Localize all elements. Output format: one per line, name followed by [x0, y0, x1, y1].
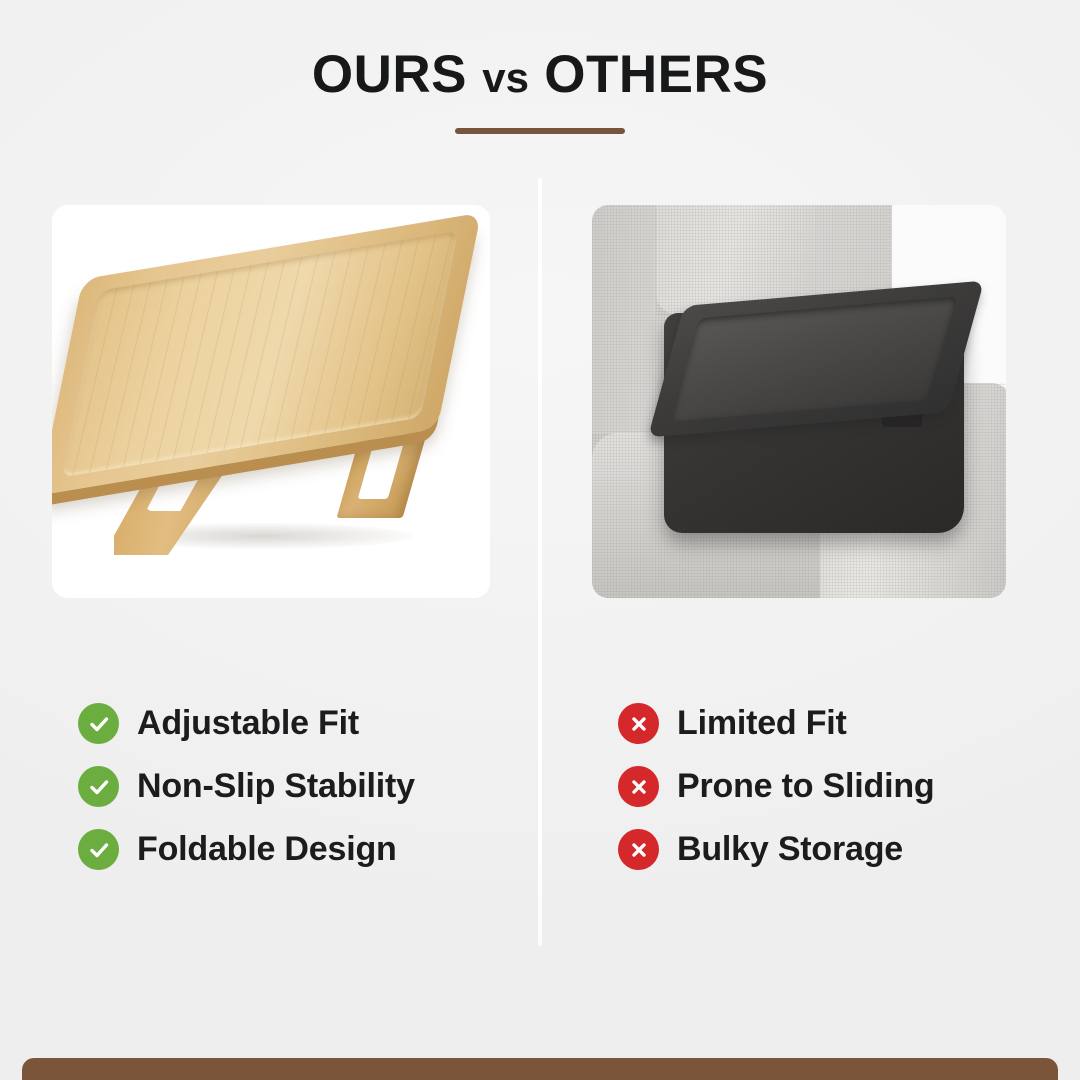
feature-label: Non-Slip Stability	[137, 767, 415, 806]
feature-label: Prone to Sliding	[677, 767, 934, 806]
list-item: Foldable Design	[78, 818, 415, 881]
list-item: Prone to Sliding	[618, 755, 934, 818]
list-item: Adjustable Fit	[78, 692, 415, 755]
ours-product-image-card	[52, 205, 490, 598]
title-underline-rule	[455, 128, 625, 134]
others-feature-list: Limited Fit Prone to Sliding Bulky Stora…	[618, 692, 934, 881]
check-circle-icon	[78, 703, 119, 744]
column-divider	[538, 178, 542, 946]
title-others: OTHERS	[544, 45, 768, 104]
bamboo-folding-tray-table-photo	[52, 205, 490, 598]
x-circle-icon	[618, 829, 659, 870]
feature-label: Limited Fit	[677, 704, 847, 743]
title-ours: OURS	[312, 45, 467, 104]
list-item: Bulky Storage	[618, 818, 934, 881]
list-item: Non-Slip Stability	[78, 755, 415, 818]
ours-feature-list: Adjustable Fit Non-Slip Stability Foldab…	[78, 692, 415, 881]
feature-label: Foldable Design	[137, 830, 397, 869]
comparison-infographic: OURS vs OTHERS	[0, 0, 1080, 1080]
check-circle-icon	[78, 829, 119, 870]
others-product-image-card	[592, 205, 1006, 598]
header: OURS vs OTHERS	[0, 44, 1080, 134]
feature-label: Bulky Storage	[677, 830, 903, 869]
feature-label: Adjustable Fit	[137, 704, 359, 743]
list-item: Limited Fit	[618, 692, 934, 755]
page-title: OURS vs OTHERS	[0, 44, 1080, 109]
x-circle-icon	[618, 766, 659, 807]
bottom-accent-bar	[22, 1058, 1058, 1080]
title-vs: vs	[482, 54, 529, 101]
x-circle-icon	[618, 703, 659, 744]
black-plastic-armrest-tray-photo	[592, 205, 1006, 598]
check-circle-icon	[78, 766, 119, 807]
